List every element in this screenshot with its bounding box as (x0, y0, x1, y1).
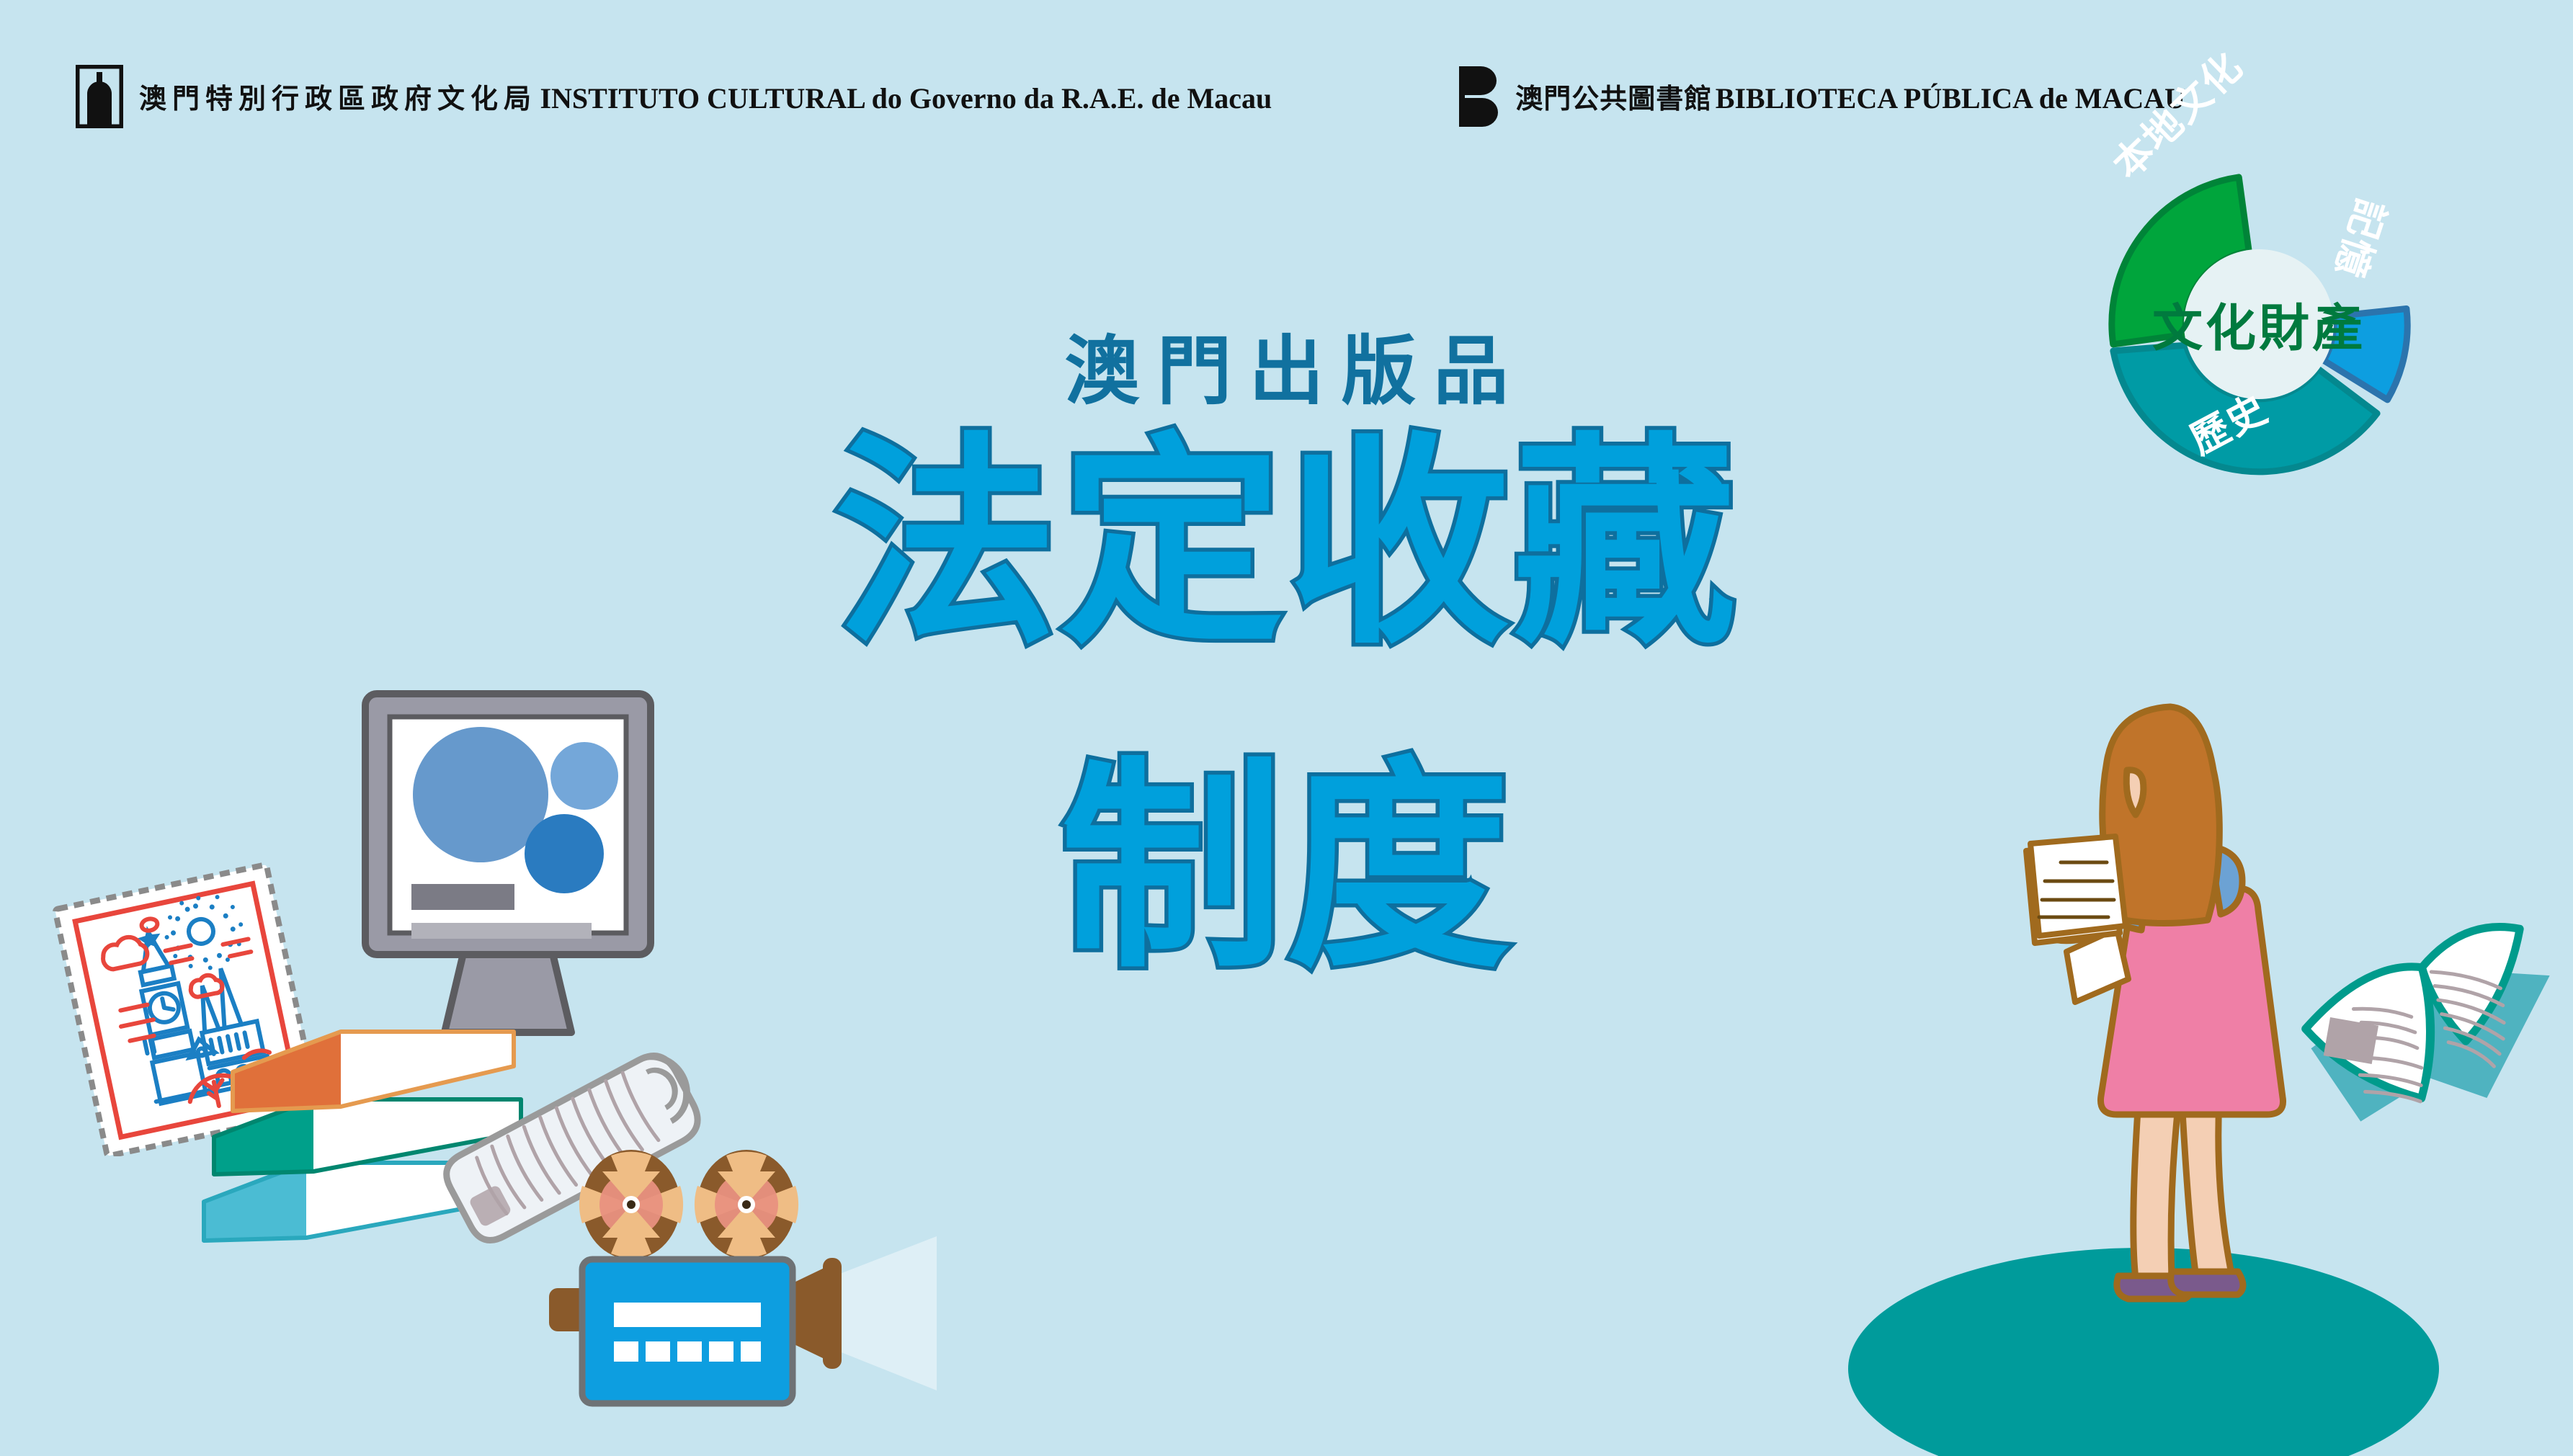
film-reel-left (579, 1150, 683, 1259)
desktop-monitor-illustration (357, 688, 659, 1048)
logo-pt-name: INSTITUTO CULTURAL do Governo da R.A.E. … (540, 82, 1272, 115)
poster-canvas: 澳門特別行政區政府文化局 INSTITUTO CULTURAL do Gover… (0, 0, 2573, 1456)
film-projector-illustration (504, 1124, 951, 1448)
logo-cn-name: 澳門公共圖書館 (1515, 84, 1712, 115)
donut-center-hole (2184, 249, 2334, 399)
letter-b-logo-icon (1459, 65, 1499, 132)
film-reel-right (695, 1150, 798, 1259)
gate-arch-logo-icon (76, 65, 123, 132)
logo-bar: 澳門特別行政區政府文化局 INSTITUTO CULTURAL do Gover… (76, 65, 2185, 132)
logo-cn-name: 澳門特別行政區政府文化局 (139, 84, 537, 115)
logo-instituto-cultural: 澳門特別行政區政府文化局 INSTITUTO CULTURAL do Gover… (76, 65, 1272, 132)
open-book-illustration (2284, 857, 2572, 1145)
logo-instituto-text: 澳門特別行政區政府文化局 INSTITUTO CULTURAL do Gover… (139, 84, 1272, 113)
cultural-property-donut-chart: 文化財產 本地文化 記憶 歷史 (2014, 79, 2504, 569)
